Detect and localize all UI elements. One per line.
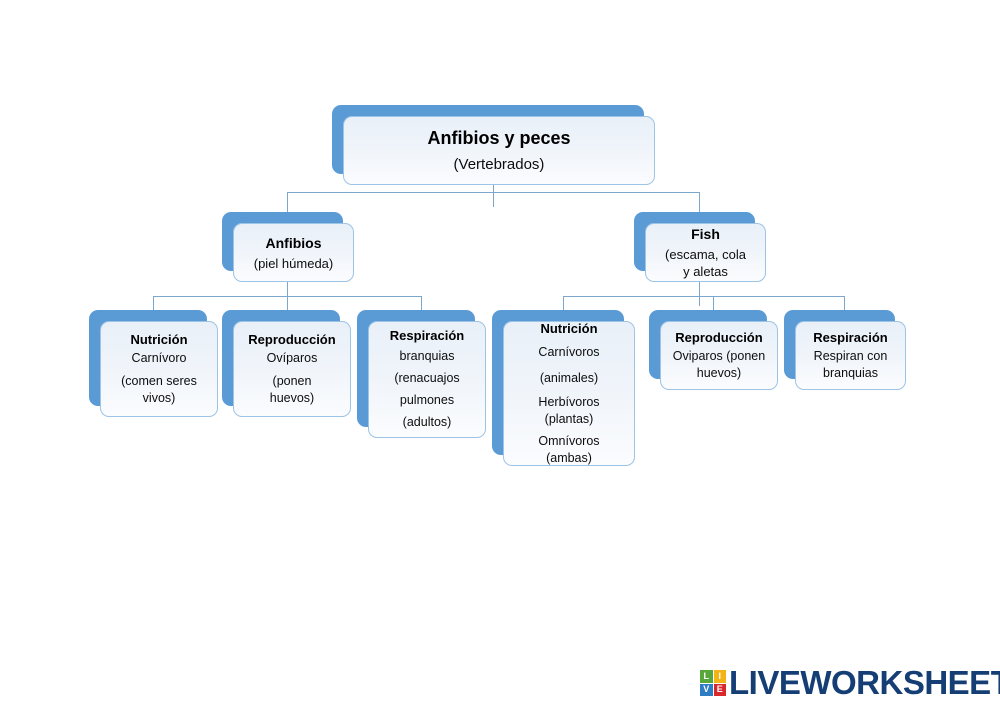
logo-letter-v: V: [700, 684, 713, 697]
node-line: (animales): [540, 368, 598, 389]
connector-root-bus: [287, 192, 700, 193]
connector-to-anfibios-respiracion: [421, 296, 422, 311]
liveworksheets-wordmark: LIVEWORKSHEETS: [729, 664, 1000, 702]
connector-to-fish: [699, 192, 700, 212]
node-subtitle: (Vertebrados): [454, 156, 545, 173]
node-fish-respiracion[interactable]: Respiración Respiran con branquias: [784, 310, 906, 390]
connector-fish-bus: [563, 296, 844, 297]
diagram-canvas: Anfibios y peces (Vertebrados) Anfibios …: [0, 0, 1000, 707]
logo-letter-l: L: [700, 670, 713, 683]
node-line: huevos): [270, 390, 314, 407]
node-subtitle-line-2: y aletas: [683, 263, 728, 280]
node-card: Anfibios y peces (Vertebrados): [343, 116, 655, 185]
node-card: Reproducción Ovíparos (ponen huevos): [233, 321, 351, 417]
node-title: Anfibios: [266, 235, 322, 251]
node-line: (ponen: [273, 373, 312, 390]
connector-to-fish-reproduccion: [713, 296, 714, 311]
node-card: Respiración Respiran con branquias: [795, 321, 906, 390]
node-title: Respiración: [813, 330, 887, 345]
node-line: vivos): [143, 390, 176, 407]
node-anfibios-reproduccion[interactable]: Reproducción Ovíparos (ponen huevos): [222, 310, 351, 417]
connector-to-anfibios-nutricion: [153, 296, 154, 311]
node-line: Herbívoros: [538, 394, 599, 411]
node-title: Nutrición: [540, 321, 597, 336]
node-title: Respiración: [390, 328, 464, 343]
node-line: branquias: [400, 348, 455, 365]
node-card: Respiración branquias (renacuajos pulmon…: [368, 321, 486, 438]
node-line: Carnívoros: [538, 342, 599, 363]
node-title: Anfibios y peces: [427, 128, 570, 149]
node-line: Ovíparos: [267, 350, 318, 367]
connector-to-anfibios: [287, 192, 288, 212]
connector-fish-stem: [699, 282, 700, 306]
node-anfibios-respiracion[interactable]: Respiración branquias (renacuajos pulmon…: [357, 310, 486, 438]
node-line: Omnívoros: [538, 433, 599, 450]
liveworksheets-logo[interactable]: L I V E LIVEWORKSHEETS: [700, 664, 1000, 702]
node-subtitle-line-1: (escama, cola: [665, 246, 746, 263]
node-line: branquias: [823, 365, 878, 382]
node-title: Nutrición: [130, 332, 187, 347]
node-card: Nutrición Carnívoro (comen seres vivos): [100, 321, 218, 417]
node-line: (plantas): [545, 411, 594, 428]
node-card: Reproducción Oviparos (ponen huevos): [660, 321, 778, 390]
node-line: huevos): [697, 365, 741, 382]
node-card: Anfibios (piel húmeda): [233, 223, 354, 282]
logo-letter-e: E: [714, 684, 727, 697]
node-card: Nutrición Carnívoros (animales) Herbívor…: [503, 321, 635, 466]
node-root-anfibios-y-peces[interactable]: Anfibios y peces (Vertebrados): [332, 105, 655, 185]
node-anfibios[interactable]: Anfibios (piel húmeda): [222, 212, 354, 282]
node-line: (comen seres: [121, 373, 197, 390]
node-line: Respiran con: [814, 348, 888, 365]
node-card: Fish (escama, cola y aletas: [645, 223, 766, 282]
node-line: (adultos): [403, 414, 452, 431]
node-title: Reproducción: [248, 332, 335, 347]
node-title: Fish: [691, 226, 720, 242]
node-line: Oviparos (ponen: [673, 348, 765, 365]
node-fish[interactable]: Fish (escama, cola y aletas: [634, 212, 766, 282]
node-line: Carnívoro: [132, 350, 187, 367]
liveworksheets-mark-icon: L I V E: [700, 670, 726, 696]
node-line: (renacuajos: [394, 370, 459, 387]
node-line: pulmones: [400, 392, 454, 409]
node-line: (ambas): [546, 450, 592, 467]
connector-to-anfibios-reproduccion: [287, 296, 288, 311]
node-title: Reproducción: [675, 330, 762, 345]
logo-letter-i: I: [714, 670, 727, 683]
connector-to-fish-respiracion: [844, 296, 845, 311]
node-anfibios-nutricion[interactable]: Nutrición Carnívoro (comen seres vivos): [89, 310, 218, 417]
node-subtitle: (piel húmeda): [254, 256, 334, 271]
node-fish-nutricion[interactable]: Nutrición Carnívoros (animales) Herbívor…: [492, 310, 635, 466]
node-fish-reproduccion[interactable]: Reproducción Oviparos (ponen huevos): [649, 310, 778, 390]
connector-to-fish-nutricion: [563, 296, 564, 311]
connector-root-stem: [493, 185, 494, 207]
